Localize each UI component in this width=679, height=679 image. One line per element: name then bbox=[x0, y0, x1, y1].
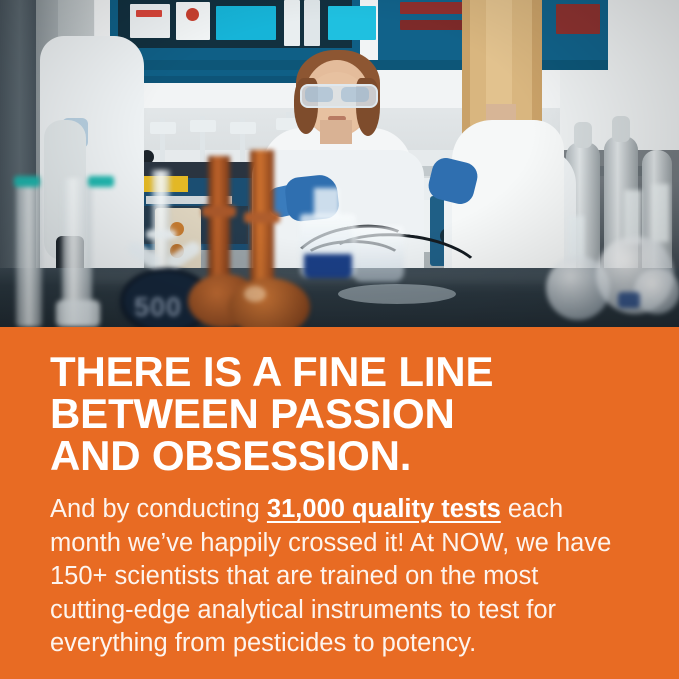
quality-tests-highlight: 31,000 quality tests bbox=[267, 495, 501, 523]
body-copy: And by conducting 31,000 quality tests e… bbox=[50, 493, 625, 661]
photo-vignette bbox=[0, 0, 679, 327]
message-panel: THERE IS A FINE LINE BETWEEN PASSION AND… bbox=[0, 327, 679, 679]
lab-photo: 500 bbox=[0, 0, 679, 327]
page-title: THERE IS A FINE LINE BETWEEN PASSION AND… bbox=[50, 351, 629, 477]
body-copy-lead: And by conducting bbox=[50, 495, 267, 523]
promo-card: 500 THERE IS A FINE LINE BETWEEN PASSION… bbox=[0, 0, 679, 679]
